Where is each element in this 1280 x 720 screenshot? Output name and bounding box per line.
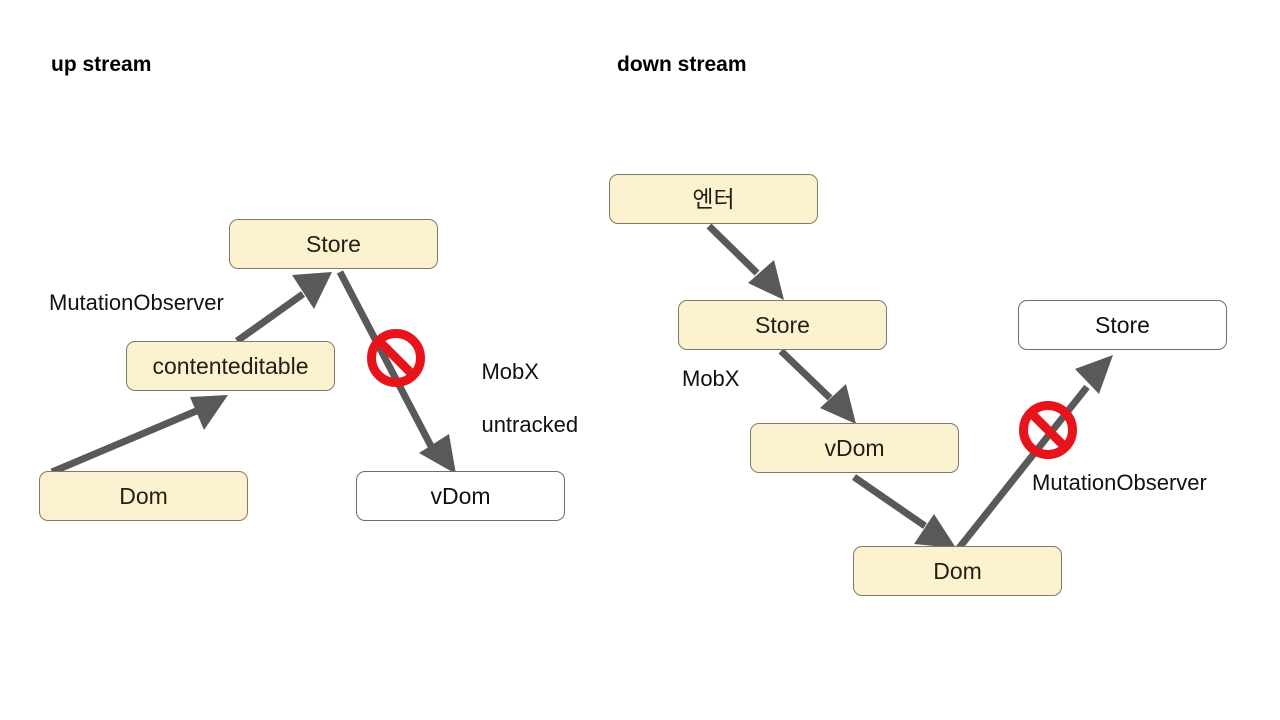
downstream-node-dom[interactable]: Dom (853, 546, 1062, 596)
upstream-label-mutationobserver: MutationObserver (49, 290, 224, 317)
upstream-node-contenteditable[interactable]: contenteditable (126, 341, 335, 391)
upstream-node-dom[interactable]: Dom (39, 471, 248, 521)
arrow-vdom-to-dom (854, 477, 956, 548)
upstream-label-untracked-line2: untracked (481, 412, 578, 437)
downstream-node-store-right[interactable]: Store (1018, 300, 1227, 350)
diagram-canvas: up stream Store contenteditable Dom vDom… (0, 0, 1280, 720)
downstream-label-mutationobserver: MutationObserver (1032, 470, 1207, 497)
arrow-store-to-vdom-down (781, 351, 856, 424)
downstream-node-store[interactable]: Store (678, 300, 887, 350)
upstream-label-mobx-line1: MobX (481, 359, 538, 384)
prohibited-icon-upstream (367, 329, 425, 392)
downstream-node-vdom[interactable]: vDom (750, 423, 959, 473)
upstream-node-store[interactable]: Store (229, 219, 438, 269)
arrow-contenteditable-to-store (237, 272, 332, 341)
downstream-node-enter[interactable]: 엔터 (609, 174, 818, 224)
downstream-label-mobx: MobX (682, 366, 739, 393)
upstream-node-vdom[interactable]: vDom (356, 471, 565, 521)
prohibited-icon-downstream (1019, 401, 1077, 464)
upstream-label-mobx-untracked: MobX untracked (457, 332, 578, 466)
arrow-dom-to-contenteditable (52, 395, 228, 472)
arrow-enter-to-store (709, 226, 784, 300)
